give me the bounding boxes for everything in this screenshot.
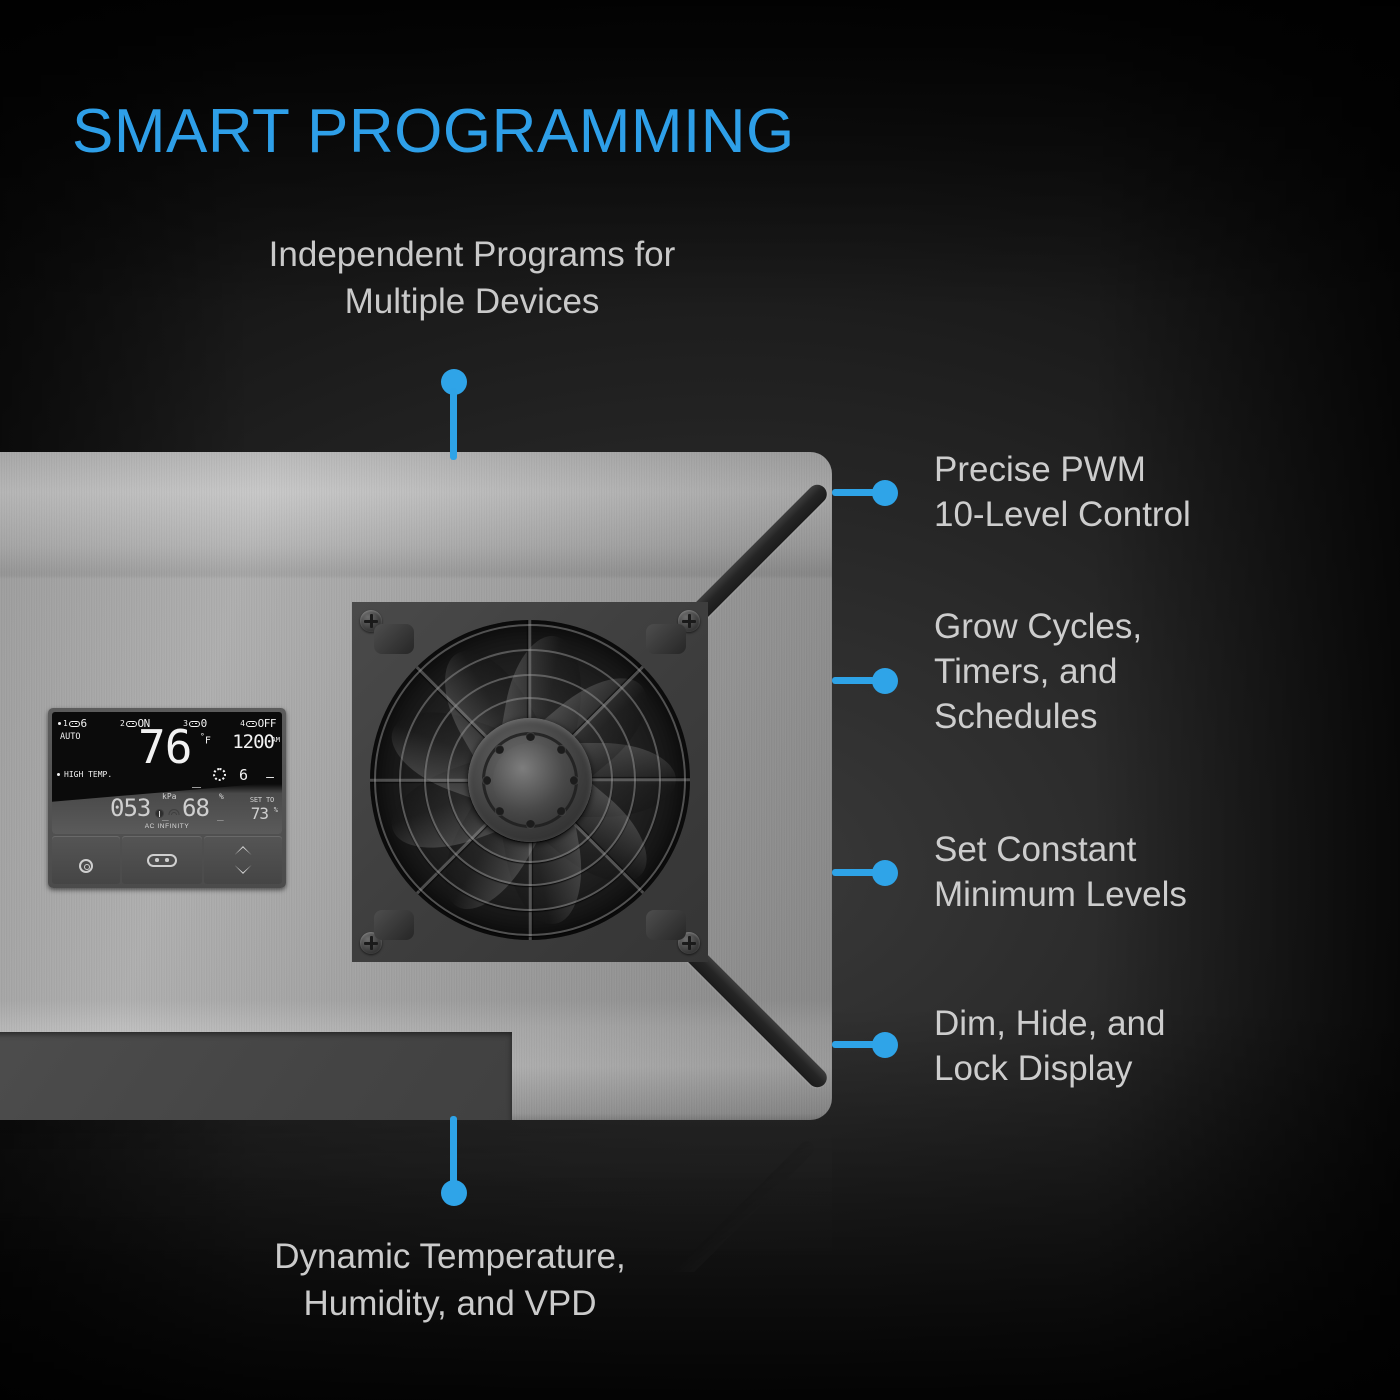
fan-mount-tab-tl: [374, 624, 414, 654]
fan-speed-icon: [213, 768, 226, 781]
connector-line-top: [450, 388, 457, 460]
alert-dot-icon: [57, 773, 60, 776]
lcd-clock-value: 1200: [232, 731, 274, 753]
bluetooth-icon: [155, 809, 164, 818]
connector-dot-bottom: [441, 1180, 467, 1206]
brand-label: AC INFINITY: [52, 823, 282, 830]
lcd-fan-speed-dash: –: [266, 770, 274, 785]
controller-module[interactable]: 1 6 2 ON 3 0 4 OFF AUTO HIGH T: [48, 708, 286, 888]
connector-dot-cycles: [872, 668, 898, 694]
callout-top-label: Independent Programs for Multiple Device…: [222, 232, 722, 325]
control-button-row: [52, 836, 282, 884]
inner-recessed-panel: [0, 1032, 512, 1120]
hub-bolt: [482, 776, 491, 785]
port-active-dot-icon: [58, 722, 61, 725]
fan-mount-tab-bl: [374, 910, 414, 940]
fan-assembly: [352, 602, 708, 962]
page-title: SMART PROGRAMMING: [72, 96, 795, 167]
plug-icon: [246, 721, 257, 727]
chevron-down-icon[interactable]: [235, 865, 252, 874]
port-3-value: 0: [201, 717, 207, 730]
lcd-alert-label: HIGH TEMP.: [64, 770, 112, 779]
connector-dot-levels: [872, 860, 898, 886]
up-down-button-group[interactable]: [204, 836, 282, 884]
temperature-unit-letter: F: [205, 735, 211, 746]
callout-bottom-label: Dynamic Temperature, Humidity, and VPD: [198, 1234, 702, 1327]
plug-icon: [126, 721, 137, 727]
lcd-temperature-unit: °F: [200, 732, 211, 746]
pill-toggle-icon[interactable]: [147, 854, 177, 867]
hub-bolt: [526, 732, 535, 741]
port-4-number: 4: [240, 719, 245, 728]
port-1-number: 1: [63, 719, 68, 728]
lcd-clock-ampm: AM: [272, 736, 280, 744]
callout-cycles-label: Grow Cycles, Timers, and Schedules: [934, 605, 1142, 739]
fan-hub-center: [493, 743, 567, 817]
menu-settings-button-group[interactable]: [52, 836, 120, 884]
fan-grille: [370, 620, 690, 940]
wifi-icon: [169, 809, 180, 818]
port-4-value: OFF: [258, 717, 276, 730]
lcd-port-1: 1 6: [58, 717, 87, 730]
hub-bolt: [570, 776, 579, 785]
connector-line-bottom: [450, 1116, 457, 1186]
fan-mount-tab-tr: [646, 624, 686, 654]
connector-dot-display: [872, 1032, 898, 1058]
lcd-alert-row: HIGH TEMP.: [57, 770, 112, 779]
gear-icon[interactable]: [79, 859, 93, 873]
callout-pwm-label: Precise PWM 10-Level Control: [934, 448, 1191, 538]
plug-icon: [69, 721, 80, 727]
fan-mount-tab-br: [646, 910, 686, 940]
power-button[interactable]: [122, 836, 202, 884]
lcd-temperature-dash: _: [192, 770, 201, 788]
lcd-fan-speed-value: 6: [239, 766, 248, 784]
lcd-mode-label: AUTO: [60, 732, 80, 742]
lcd-temperature-value: 76: [138, 726, 191, 768]
callout-levels-label: Set Constant Minimum Levels: [934, 828, 1187, 918]
lcd-display[interactable]: 1 6 2 ON 3 0 4 OFF AUTO HIGH T: [52, 712, 282, 834]
port-1-value: 6: [81, 717, 87, 730]
lcd-port-4: 4 OFF: [240, 717, 276, 730]
callout-display-label: Dim, Hide, and Lock Display: [934, 1002, 1165, 1092]
port-2-number: 2: [120, 719, 125, 728]
lcd-connectivity-icons: [52, 809, 282, 818]
chevron-up-icon[interactable]: [235, 846, 252, 855]
hub-bolt: [526, 820, 535, 829]
connector-dot-pwm: [872, 480, 898, 506]
